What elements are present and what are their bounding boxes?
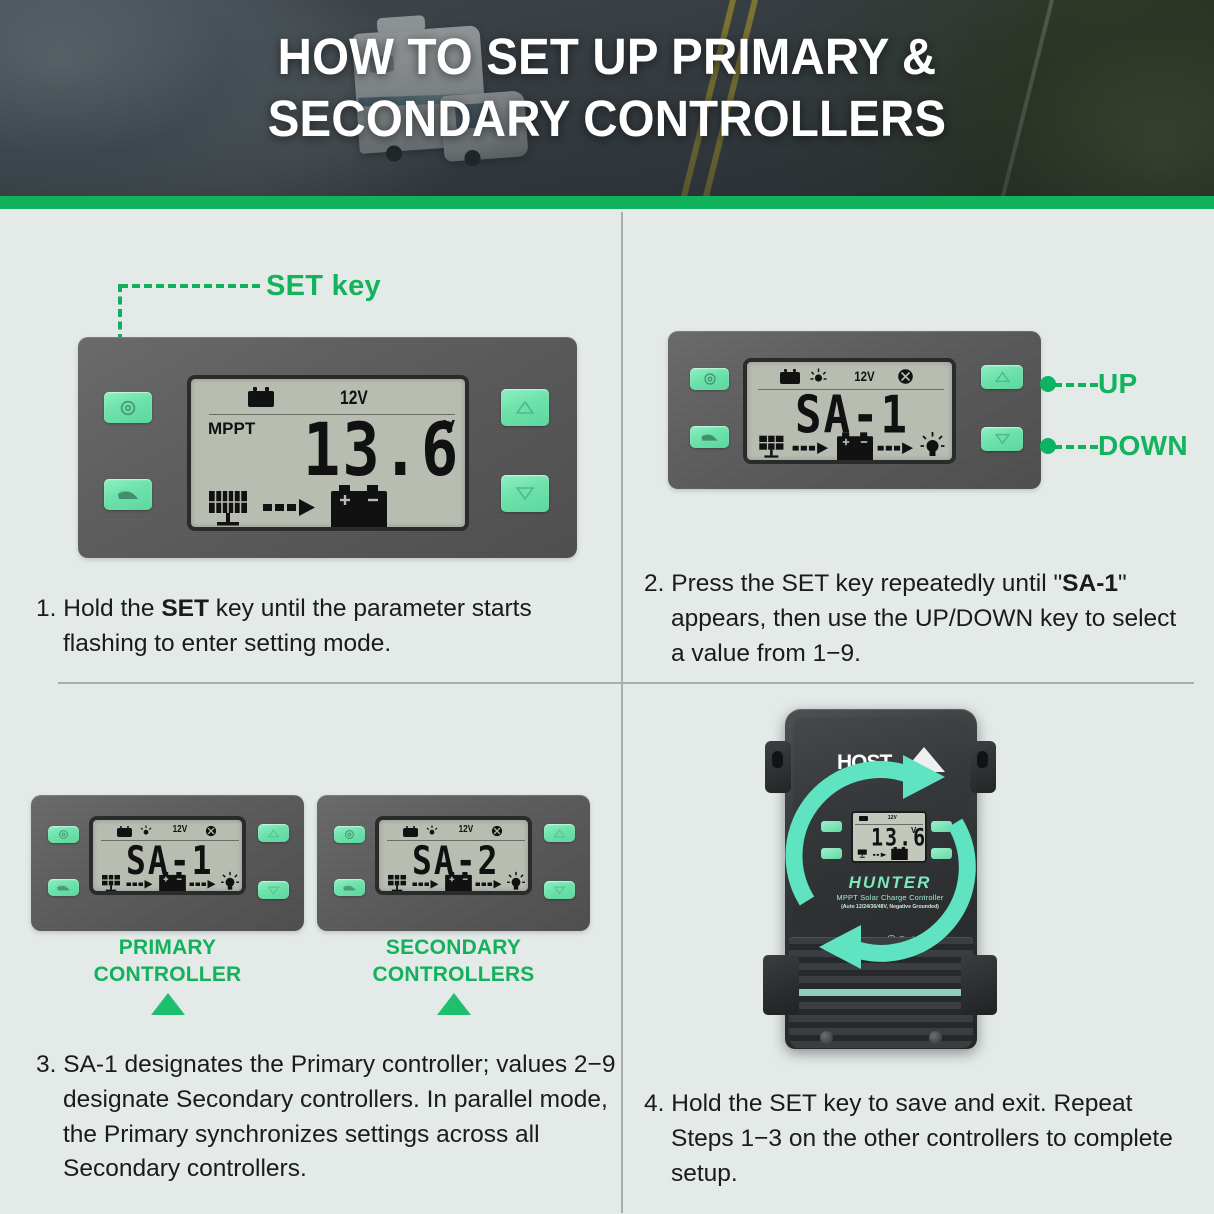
up-key-button-secondary[interactable]: [544, 824, 575, 842]
lcd-unit: V: [443, 417, 455, 438]
lcd-display-secondary: 12V SA-2: [375, 816, 532, 895]
triangle-down-icon: [553, 886, 566, 895]
sun-icon: [140, 825, 152, 838]
battery-icon: [403, 828, 418, 837]
caption-1-before: Hold the: [63, 595, 161, 622]
triangle-down-icon: [267, 886, 280, 895]
flow-arrow-icon: [263, 497, 317, 519]
down-key-button-2[interactable]: [981, 427, 1023, 451]
lcd-system-voltage-2: 12V: [854, 368, 874, 384]
down-key-button[interactable]: [501, 475, 549, 512]
bulb-icon: [220, 870, 240, 893]
power-set-icon: [344, 829, 355, 840]
set-key-button-secondary[interactable]: [334, 826, 365, 843]
flow-arrow-icon: [189, 879, 217, 890]
lcd-value: 13.6: [303, 406, 460, 492]
flow-arrow-icon: [475, 879, 503, 890]
solar-panel-icon: [101, 874, 122, 892]
battery-icon: [780, 372, 800, 384]
sync-circular-arrows-icon: [763, 705, 998, 1052]
triangle-up-icon: [267, 829, 280, 838]
page-title-line1: HOW TO SET UP PRIMARY &: [42, 26, 1171, 88]
accent-divider-bar: [0, 196, 1214, 209]
battery-icon: [248, 391, 274, 407]
triangle-up-icon: [553, 829, 566, 838]
secondary-label-line1: SECONDARY: [321, 934, 586, 961]
primary-label-line2: CONTROLLER: [35, 961, 300, 988]
hunter-controller-device: HQST HIGH QUALITY SOLAR TECHNOLOGY 12V 1…: [763, 705, 998, 1052]
battery-large-icon: [159, 872, 186, 893]
down-key-button-primary[interactable]: [258, 881, 289, 899]
set-key-button-2[interactable]: [690, 368, 729, 390]
battery-large-icon: [837, 432, 873, 461]
caption-4-text: Hold the SET key to save and exit. Repea…: [671, 1090, 1173, 1187]
set-key-button-primary[interactable]: [48, 826, 79, 843]
flow-arrow-icon: [412, 879, 440, 890]
fan-icon: [491, 825, 503, 837]
lcd-system-voltage-primary: 12V: [173, 824, 188, 835]
battery-large-icon: [331, 485, 387, 529]
controller-secondary: 12V SA-2: [317, 795, 590, 931]
back-key-button-2[interactable]: [690, 426, 729, 448]
caption-3-number: 3.: [36, 1051, 56, 1078]
solar-panel-icon: [387, 874, 408, 892]
secondary-controller-label: SECONDARY CONTROLLERS: [321, 934, 586, 989]
lcd-display-2: 12V SA-1: [743, 358, 956, 464]
triangle-down-icon: [515, 486, 535, 501]
controller-primary: 12V SA-1: [31, 795, 304, 931]
down-callout-line: [1054, 445, 1098, 449]
triangle-down-icon: [994, 433, 1011, 445]
secondary-label-line2: CONTROLLERS: [321, 961, 586, 988]
return-arrow-icon: [116, 487, 140, 503]
solar-panel-icon: [758, 434, 786, 459]
caption-4-number: 4.: [644, 1090, 664, 1117]
up-key-button-primary[interactable]: [258, 824, 289, 842]
caption-1-number: 1.: [36, 595, 56, 622]
caption-2-bold: SA-1: [1062, 570, 1118, 597]
flow-arrow-icon: [792, 441, 830, 456]
caption-step-2: 2. Press the SET key repeatedly until "S…: [644, 567, 1189, 671]
page-title-line2: SECONDARY CONTROLLERS: [42, 88, 1171, 150]
lcd-mode-label: MPPT: [208, 419, 255, 439]
lcd-display-1: 12V MPPT 13.6 V: [187, 375, 469, 531]
up-key-button[interactable]: [501, 389, 549, 426]
power-set-icon: [703, 372, 717, 386]
fan-icon: [897, 368, 914, 385]
up-callout-line: [1054, 383, 1098, 387]
up-callout-label: UP: [1098, 368, 1138, 400]
set-key-callout-line-h: [120, 284, 260, 288]
primary-controller-label: PRIMARY CONTROLLER: [35, 934, 300, 989]
hero-banner: HOW TO SET UP PRIMARY & SECONDARY CONTRO…: [0, 0, 1214, 196]
secondary-pointer-triangle: [437, 993, 471, 1015]
return-arrow-icon: [700, 431, 719, 444]
sun-icon: [426, 825, 438, 838]
caption-step-1: 1. Hold the SET key until the parameter …: [36, 592, 596, 662]
sun-icon: [810, 368, 827, 386]
set-key-button[interactable]: [104, 392, 152, 423]
bulb-icon: [919, 430, 946, 460]
primary-label-line1: PRIMARY: [35, 934, 300, 961]
lcd-display-primary: 12V SA-1: [89, 816, 246, 895]
horizontal-divider: [58, 682, 1194, 684]
caption-1-bold: SET: [161, 595, 209, 622]
vertical-divider-top: [621, 212, 623, 682]
caption-step-3: 3. SA-1 designates the Primary controlle…: [36, 1048, 616, 1187]
lcd-system-voltage-secondary: 12V: [459, 824, 474, 835]
back-key-button-primary[interactable]: [48, 879, 79, 896]
power-set-icon: [119, 399, 137, 417]
triangle-up-icon: [515, 400, 535, 415]
up-key-button-2[interactable]: [981, 365, 1023, 389]
vertical-divider-bottom: [621, 683, 623, 1213]
caption-step-4: 4. Hold the SET key to save and exit. Re…: [644, 1087, 1189, 1191]
set-key-callout-label: SET key: [266, 270, 381, 303]
page-title: HOW TO SET UP PRIMARY & SECONDARY CONTRO…: [42, 26, 1171, 150]
controller-panel-1: 12V MPPT 13.6 V: [78, 337, 577, 558]
return-arrow-icon: [56, 883, 71, 893]
controller-panel-2: 12V SA-1: [668, 331, 1041, 489]
caption-2-number: 2.: [644, 570, 664, 597]
return-arrow-icon: [342, 883, 357, 893]
bulb-icon: [506, 870, 526, 893]
triangle-up-icon: [994, 371, 1011, 383]
flow-arrow-icon: [877, 441, 915, 456]
caption-3-text: SA-1 designates the Primary controller; …: [63, 1051, 615, 1182]
fan-icon: [205, 825, 217, 837]
power-set-icon: [58, 829, 69, 840]
primary-pointer-triangle: [151, 993, 185, 1015]
solar-panel-icon: [207, 489, 251, 527]
back-key-button-secondary[interactable]: [334, 879, 365, 896]
flow-arrow-icon: [126, 879, 154, 890]
battery-large-icon: [445, 872, 472, 893]
down-key-button-secondary[interactable]: [544, 881, 575, 899]
caption-2-before: Press the SET key repeatedly until ": [671, 570, 1062, 597]
back-key-button[interactable]: [104, 479, 152, 510]
down-callout-label: DOWN: [1098, 430, 1188, 462]
battery-icon: [117, 828, 132, 837]
